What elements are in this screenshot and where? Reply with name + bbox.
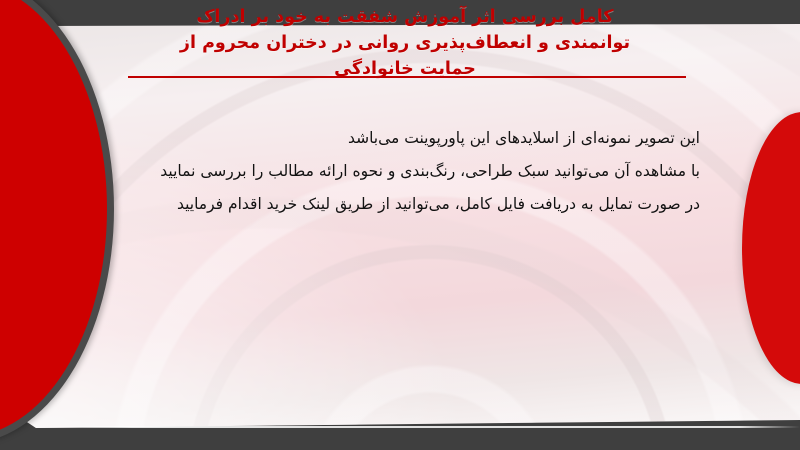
title-line-2: توانمندی و انعطاف‌پذیری روانی در دختران … bbox=[120, 30, 690, 56]
slide-body-text: این تصویر نمونه‌ای از اسلایدهای این پاور… bbox=[100, 122, 700, 221]
slide-title: کامل بررسی اثر آموزش شفقت به خود بر ادرا… bbox=[120, 4, 690, 82]
title-line-3: حمایت خانوادگی bbox=[120, 56, 690, 82]
body-line-1: این تصویر نمونه‌ای از اسلایدهای این پاور… bbox=[100, 122, 700, 155]
body-line-2: با مشاهده آن می‌توانید سبک طراحی، رنگ‌بن… bbox=[100, 155, 700, 188]
title-line-1: کامل بررسی اثر آموزش شفقت به خود بر ادرا… bbox=[120, 4, 690, 30]
body-line-3: در صورت تمایل به دریافت فایل کامل، می‌تو… bbox=[100, 188, 700, 221]
title-underline-rule bbox=[128, 76, 686, 78]
presentation-slide: کامل بررسی اثر آموزش شفقت به خود بر ادرا… bbox=[0, 0, 800, 450]
